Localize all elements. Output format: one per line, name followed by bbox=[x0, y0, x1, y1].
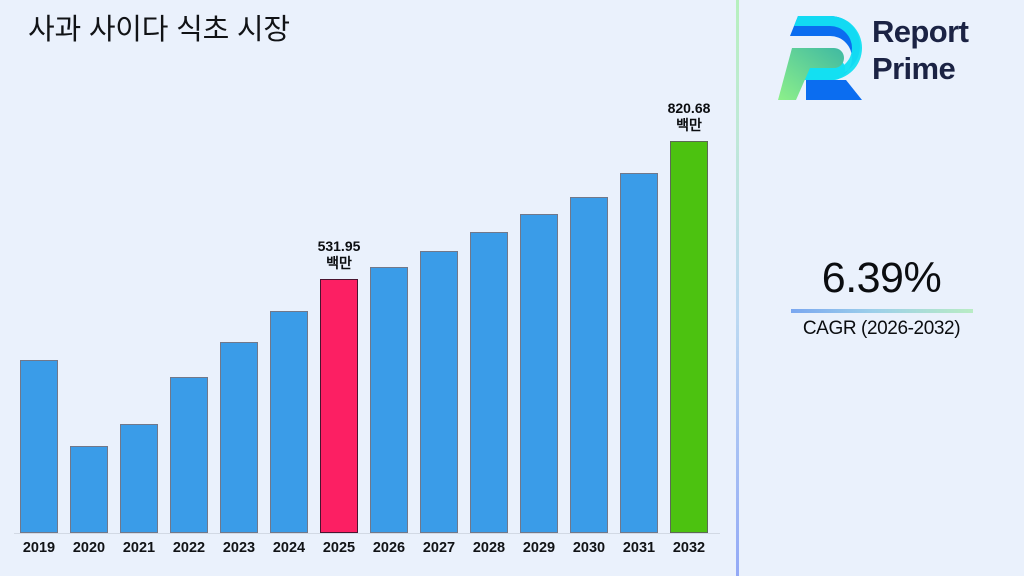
x-tick-2025: 2025 bbox=[314, 538, 364, 558]
x-tick-2023: 2023 bbox=[214, 538, 264, 558]
bar-2020 bbox=[70, 446, 108, 533]
bar-2031 bbox=[620, 173, 658, 533]
bar-2022 bbox=[170, 377, 208, 533]
x-tick-2028: 2028 bbox=[464, 538, 514, 558]
bar-2026 bbox=[370, 267, 408, 533]
cagr-block: 6.39% CAGR (2026-2032) bbox=[739, 252, 1024, 341]
bar-2029 bbox=[520, 214, 558, 533]
x-tick-2021: 2021 bbox=[114, 538, 164, 558]
bar-2023 bbox=[220, 342, 258, 533]
report-prime-wordmark: Report Prime bbox=[872, 13, 1004, 87]
bar-2027 bbox=[420, 251, 458, 533]
chart-panel: 사과 사이다 식초 시장 531.95백만820.68백만 2019202020… bbox=[0, 0, 737, 576]
x-tick-2032: 2032 bbox=[664, 538, 714, 558]
cagr-value: 6.39% bbox=[739, 252, 1024, 304]
x-tick-2027: 2027 bbox=[414, 538, 464, 558]
x-tick-2022: 2022 bbox=[164, 538, 214, 558]
bar-value-unit-2032: 백만 bbox=[644, 117, 734, 134]
bar-value-2025: 531.95 bbox=[318, 238, 361, 254]
report-prime-logo-mark-icon bbox=[776, 8, 868, 100]
bar-2024 bbox=[270, 311, 308, 533]
bar-2032 bbox=[670, 141, 708, 533]
x-tick-2020: 2020 bbox=[64, 538, 114, 558]
bar-2019 bbox=[20, 360, 58, 533]
cagr-caption: CAGR (2026-2032) bbox=[739, 316, 1024, 341]
x-tick-2029: 2029 bbox=[514, 538, 564, 558]
bar-value-label-2032: 820.68백만 bbox=[644, 100, 734, 134]
report-prime-logo: Report Prime bbox=[776, 6, 1004, 102]
bar-2025 bbox=[320, 279, 358, 533]
bar-2028 bbox=[470, 232, 508, 533]
x-tick-2031: 2031 bbox=[614, 538, 664, 558]
bar-chart-plot: 531.95백만820.68백만 20192020202120222023202… bbox=[0, 0, 737, 576]
x-tick-2030: 2030 bbox=[564, 538, 614, 558]
bar-2030 bbox=[570, 197, 608, 533]
bar-2021 bbox=[120, 424, 158, 533]
chart-screenshot: 사과 사이다 식초 시장 531.95백만820.68백만 2019202020… bbox=[0, 0, 1024, 576]
side-panel: Report Prime 6.39% CAGR (2026-2032) bbox=[739, 0, 1024, 576]
x-tick-2026: 2026 bbox=[364, 538, 414, 558]
logo-line-1: Report bbox=[872, 13, 1004, 50]
x-tick-2024: 2024 bbox=[264, 538, 314, 558]
x-axis-baseline bbox=[14, 533, 720, 534]
bar-value-2032: 820.68 bbox=[668, 100, 711, 116]
x-tick-2019: 2019 bbox=[14, 538, 64, 558]
cagr-divider-rule bbox=[791, 309, 973, 313]
logo-line-2: Prime bbox=[872, 50, 1004, 87]
